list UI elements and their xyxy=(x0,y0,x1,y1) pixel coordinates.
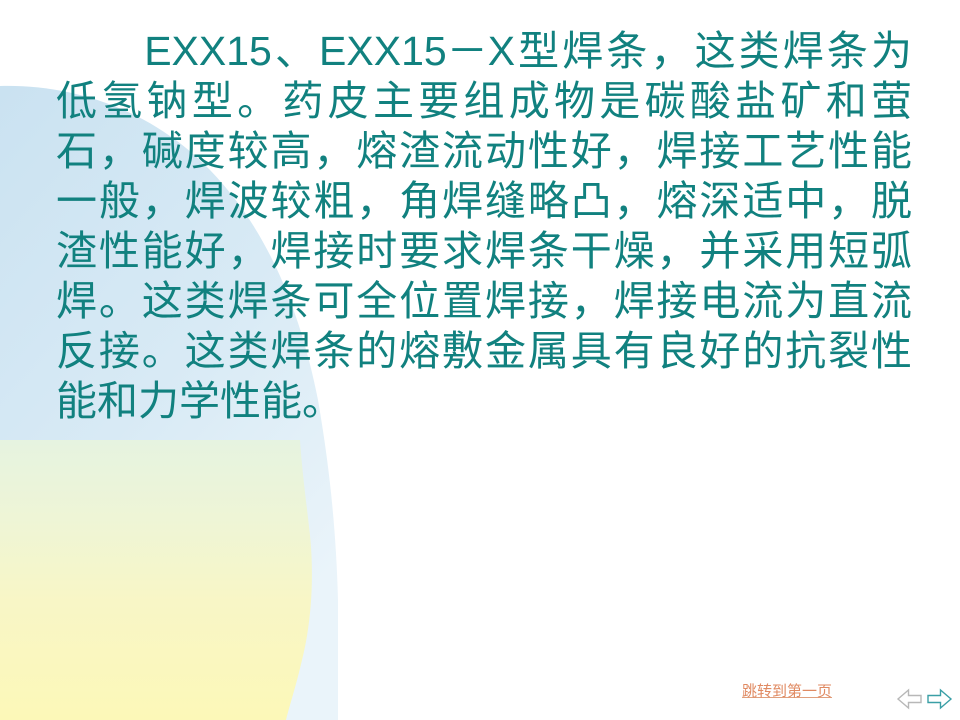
slide-body-text: EXX15、EXX15－X型焊条，这类焊条为低氢钠型。药皮主要组成物是碳酸盐矿和… xyxy=(56,26,912,426)
arrow-right-icon[interactable] xyxy=(925,686,953,712)
arrow-left-icon[interactable] xyxy=(896,686,924,712)
green-yellow-panel-shape xyxy=(0,440,312,720)
presentation-slide: EXX15、EXX15－X型焊条，这类焊条为低氢钠型。药皮主要组成物是碳酸盐矿和… xyxy=(0,0,960,720)
navigation-arrows xyxy=(896,686,954,712)
jump-to-first-page-link[interactable]: 跳转到第一页 xyxy=(742,683,832,701)
